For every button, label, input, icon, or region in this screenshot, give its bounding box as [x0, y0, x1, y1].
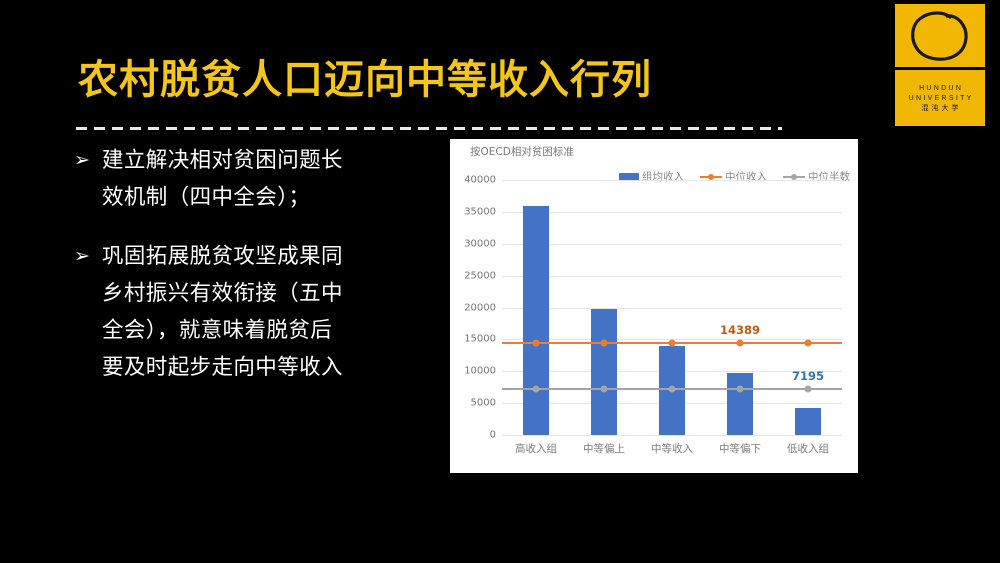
y-axis-tick: 10000	[464, 366, 496, 377]
y-axis-tick: 20000	[464, 302, 496, 313]
chart-x-axis: 高收入组中等偏上中等收入中等偏下低收入组	[502, 435, 842, 465]
slide-canvas: HUNDUN UNIVERSITY 混沌大学 农村脱贫人口迈向中等收入行列 ➢ …	[0, 0, 1000, 563]
x-axis-tick: 中等收入	[651, 441, 693, 456]
gridline: 20000	[502, 308, 842, 309]
bullet-arrow-icon: ➢	[74, 238, 102, 275]
bullet-line: 效机制（四中全会）；	[102, 185, 310, 210]
title-divider	[76, 127, 782, 130]
data-point[interactable]	[669, 386, 676, 393]
y-axis-tick: 15000	[464, 334, 496, 345]
bullet-arrow-icon: ➢	[74, 142, 102, 179]
bar-高收入组[interactable]	[523, 206, 549, 436]
bar-低收入组[interactable]	[795, 408, 821, 435]
bullet-list: ➢ 建立解决相对贫困问题长 效机制（四中全会）； ➢ 巩固拓展脱贫攻坚成果同 乡…	[74, 142, 434, 408]
y-axis-tick: 35000	[464, 206, 496, 217]
brand-logo: HUNDUN UNIVERSITY 混沌大学	[895, 4, 985, 126]
gridline: 35000	[502, 212, 842, 213]
gridline: 30000	[502, 244, 842, 245]
data-point[interactable]	[669, 340, 676, 347]
data-point[interactable]	[737, 340, 744, 347]
bullet-line: 全会），就意味着脱贫后	[102, 318, 332, 343]
bullet-line: 建立解决相对贫困问题长	[102, 148, 343, 173]
logo-english-line1: HUNDUN	[917, 85, 963, 92]
x-axis-tick: 中等偏下	[719, 441, 761, 456]
data-point[interactable]	[533, 386, 540, 393]
chart-title: 按OECD相对贫困标准	[470, 144, 574, 159]
y-axis-tick: 5000	[471, 398, 496, 409]
bullet-line: 乡村振兴有效衔接（五中	[102, 281, 343, 306]
page-title: 农村脱贫人口迈向中等收入行列	[78, 58, 652, 102]
bullet-text: 建立解决相对贫困问题长 效机制（四中全会）；	[102, 142, 434, 216]
gridline: 40000	[502, 180, 842, 181]
bullet-line: 要及时起步走向中等收入	[102, 355, 343, 380]
gridline: 25000	[502, 276, 842, 277]
data-point[interactable]	[601, 386, 608, 393]
y-axis-tick: 40000	[464, 175, 496, 186]
list-item: ➢ 建立解决相对贫困问题长 效机制（四中全会）；	[74, 142, 434, 216]
data-point[interactable]	[805, 340, 812, 347]
data-label: 7195	[792, 369, 824, 383]
data-point[interactable]	[601, 340, 608, 347]
bullet-text: 巩固拓展脱贫攻坚成果同 乡村振兴有效衔接（五中 全会），就意味着脱贫后 要及时起…	[102, 238, 434, 386]
list-item: ➢ 巩固拓展脱贫攻坚成果同 乡村振兴有效衔接（五中 全会），就意味着脱贫后 要及…	[74, 238, 434, 386]
y-axis-tick: 30000	[464, 238, 496, 249]
brand-wordmark: HUNDUN UNIVERSITY 混沌大学	[895, 70, 985, 126]
logo-chinese: 混沌大学	[919, 105, 962, 112]
bullet-line: 巩固拓展脱贫攻坚成果同	[102, 244, 343, 269]
chart-plot-area: 0500010000150002000025000300003500040000…	[502, 180, 842, 435]
x-axis-tick: 高收入组	[515, 441, 557, 456]
y-axis-tick: 0	[490, 430, 496, 441]
chart-panel: 按OECD相对贫困标准 组均收入中位收入中位半数 050001000015000…	[450, 139, 858, 473]
data-point[interactable]	[805, 386, 812, 393]
x-axis-tick: 中等偏上	[583, 441, 625, 456]
enso-brush-circle-icon	[895, 4, 985, 67]
data-point[interactable]	[737, 386, 744, 393]
y-axis-tick: 25000	[464, 270, 496, 281]
data-point[interactable]	[533, 340, 540, 347]
bar-中等偏上[interactable]	[591, 309, 617, 435]
logo-english-line2: UNIVERSITY	[906, 95, 973, 102]
x-axis-tick: 低收入组	[787, 441, 829, 456]
bar-中等偏下[interactable]	[727, 373, 753, 435]
data-label: 14389	[720, 323, 760, 337]
